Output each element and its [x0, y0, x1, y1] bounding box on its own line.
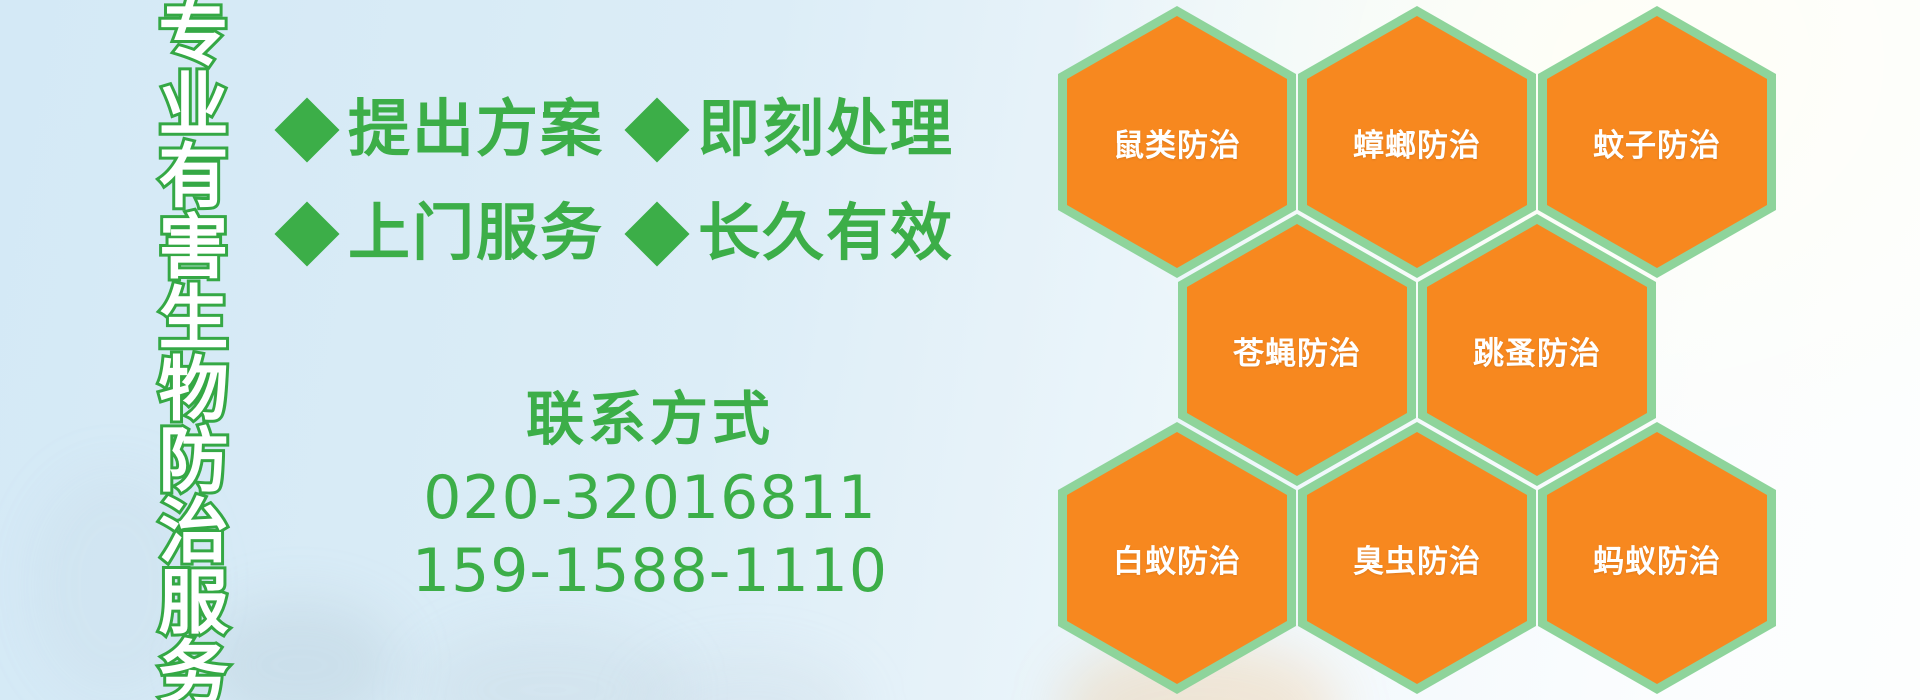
hex-inner-fill: 苍蝇防治 — [1187, 224, 1407, 476]
pest-control-banner: 专业有害生物防治服务 提出方案 即刻处理 上门服务 长久有效 联系方式 020-… — [0, 0, 1920, 700]
feature-row-1: 提出方案 即刻处理 — [282, 78, 882, 182]
vertical-headline: 专业有害生物防治服务 — [118, 0, 222, 700]
service-label: 跳蚤防治 — [1473, 328, 1601, 373]
feature-label-propose-plan: 提出方案 — [348, 99, 604, 161]
phone-mobile[interactable]: 159-1588-1110 — [300, 535, 1000, 608]
hex-inner-fill: 跳蚤防治 — [1427, 224, 1647, 476]
diamond-icon — [274, 201, 339, 266]
service-label: 蟑螂防治 — [1353, 120, 1481, 165]
feature-row-2: 上门服务 长久有效 — [282, 182, 882, 286]
diamond-icon — [624, 97, 689, 162]
service-label: 鼠类防治 — [1113, 120, 1241, 165]
hex-inner-fill: 白蚁防治 — [1067, 432, 1287, 684]
service-label: 苍蝇防治 — [1233, 328, 1361, 373]
service-label: 蚊子防治 — [1593, 120, 1721, 165]
contact-block: 联系方式 020-32016811 159-1588-1110 — [300, 388, 1000, 608]
background-blur-blob — [420, 630, 680, 700]
service-label: 臭虫防治 — [1353, 536, 1481, 581]
feature-label-immediate-handling: 即刻处理 — [698, 99, 954, 161]
background-blur-blob — [640, 655, 860, 700]
hex-inner-fill: 蚂蚁防治 — [1547, 432, 1767, 684]
service-label: 白蚁防治 — [1113, 536, 1241, 581]
phone-landline[interactable]: 020-32016811 — [300, 462, 1000, 535]
feature-list: 提出方案 即刻处理 上门服务 长久有效 — [282, 78, 882, 286]
hex-inner-fill: 蚊子防治 — [1547, 16, 1767, 268]
background-blur-blob — [200, 600, 400, 700]
contact-title: 联系方式 — [300, 388, 1000, 452]
hex-inner-fill: 鼠类防治 — [1067, 16, 1287, 268]
service-label: 蚂蚁防治 — [1593, 536, 1721, 581]
feature-label-onsite-service: 上门服务 — [348, 203, 604, 265]
service-hexagon-grid: 鼠类防治 蟑螂防治 蚊子防治 苍蝇防治 跳蚤防治 白蚁防治 — [1058, 0, 1818, 700]
hex-inner-fill: 蟑螂防治 — [1307, 16, 1527, 268]
diamond-icon — [274, 97, 339, 162]
feature-label-long-lasting: 长久有效 — [698, 203, 954, 265]
hex-inner-fill: 臭虫防治 — [1307, 432, 1527, 684]
diamond-icon — [624, 201, 689, 266]
